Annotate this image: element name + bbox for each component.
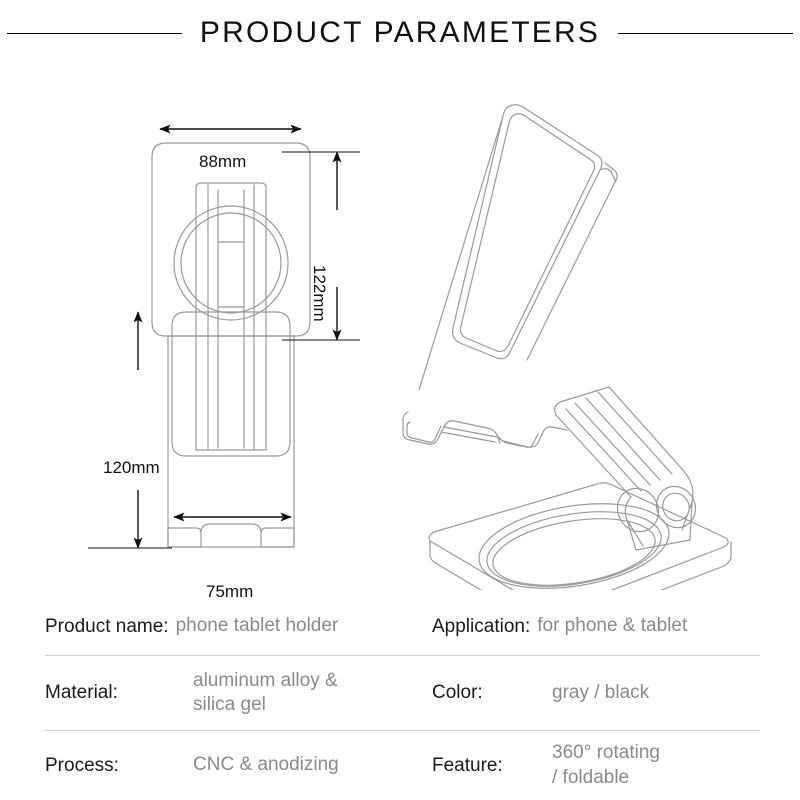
spec-cell-process: Process: CNC & anodizing bbox=[45, 753, 432, 777]
spec-value: aluminum alloy &silica gel bbox=[193, 669, 338, 718]
hinge-knuckle-right bbox=[649, 480, 702, 535]
phone-rest-panel-outer bbox=[453, 105, 602, 359]
cradle-lip-left-inner bbox=[407, 422, 441, 442]
arm-a-edge2 bbox=[566, 409, 641, 491]
table-row: Process: CNC & anodizing Feature: 360° r… bbox=[45, 731, 760, 800]
foot-right bbox=[261, 528, 294, 547]
base-rotating-disc bbox=[488, 509, 660, 590]
base-rotating-ring-inner bbox=[482, 501, 667, 590]
spec-cell-product-name: Product name: phone tablet holder bbox=[45, 614, 432, 638]
spec-value: for phone & tablet bbox=[537, 614, 687, 638]
dimension-label-120mm: 120mm bbox=[103, 458, 160, 478]
perspective-view-group bbox=[403, 105, 731, 590]
spec-label: Feature: bbox=[432, 755, 552, 777]
hinge-post bbox=[627, 502, 692, 550]
base-plate-top bbox=[429, 483, 728, 590]
table-row: Product name: phone tablet holder Applic… bbox=[45, 598, 760, 656]
arm-c-edge2 bbox=[609, 387, 682, 469]
support-arm-outline bbox=[196, 183, 266, 450]
dimension-lines-group bbox=[88, 129, 360, 548]
header-rule-right bbox=[618, 33, 793, 34]
spec-value: gray / black bbox=[552, 681, 649, 705]
dimension-label-122mm: 122mm bbox=[309, 265, 329, 322]
spec-cell-color: Color: gray / black bbox=[432, 681, 760, 705]
page-header: PRODUCT PARAMETERS bbox=[0, 0, 800, 66]
rotating-disc-outer bbox=[174, 206, 288, 320]
spec-cell-application: Application: for phone & tablet bbox=[432, 614, 760, 638]
panel-back-edge bbox=[419, 116, 503, 390]
arm-b-edge1 bbox=[575, 403, 650, 485]
spec-value: CNC & anodizing bbox=[193, 753, 339, 777]
base-rotating-ring-outer bbox=[473, 491, 675, 590]
cradle-lip-right-inner bbox=[500, 434, 538, 447]
spec-label: Application: bbox=[432, 616, 530, 638]
spec-cell-feature: Feature: 360° rotating/ foldable bbox=[432, 741, 760, 790]
spec-value: phone tablet holder bbox=[176, 614, 339, 638]
page-title: PRODUCT PARAMETERS bbox=[200, 16, 600, 50]
stand-body-outline bbox=[168, 336, 294, 547]
header-rule-left bbox=[7, 33, 182, 34]
spec-label: Product name: bbox=[45, 616, 169, 638]
foot-left bbox=[168, 528, 201, 547]
panel-side-thickness bbox=[527, 163, 617, 360]
front-view-group bbox=[152, 143, 310, 547]
foot-bridge bbox=[201, 524, 261, 533]
spec-cell-material: Material: aluminum alloy &silica gel bbox=[45, 669, 432, 718]
spec-value: 360° rotating/ foldable bbox=[552, 741, 660, 790]
cradle-lip-right bbox=[497, 427, 567, 447]
drawing-canvas bbox=[0, 60, 800, 590]
spec-label: Color: bbox=[432, 682, 552, 704]
panel-edge-highlight bbox=[600, 169, 616, 182]
cradle-bridge-lower bbox=[441, 432, 495, 442]
spec-label: Process: bbox=[45, 755, 193, 777]
base-plate-front bbox=[172, 312, 290, 456]
table-row: Material: aluminum alloy &silica gel Col… bbox=[45, 656, 760, 731]
specifications-table: Product name: phone tablet holder Applic… bbox=[45, 598, 760, 800]
spec-label: Material: bbox=[45, 682, 193, 704]
arm-b-edge2 bbox=[586, 398, 660, 480]
product-drawing-area: 88mm 122mm 120mm 75mm bbox=[0, 60, 800, 590]
dimension-label-88mm: 88mm bbox=[199, 152, 246, 172]
arm-c-edge1 bbox=[598, 392, 672, 474]
